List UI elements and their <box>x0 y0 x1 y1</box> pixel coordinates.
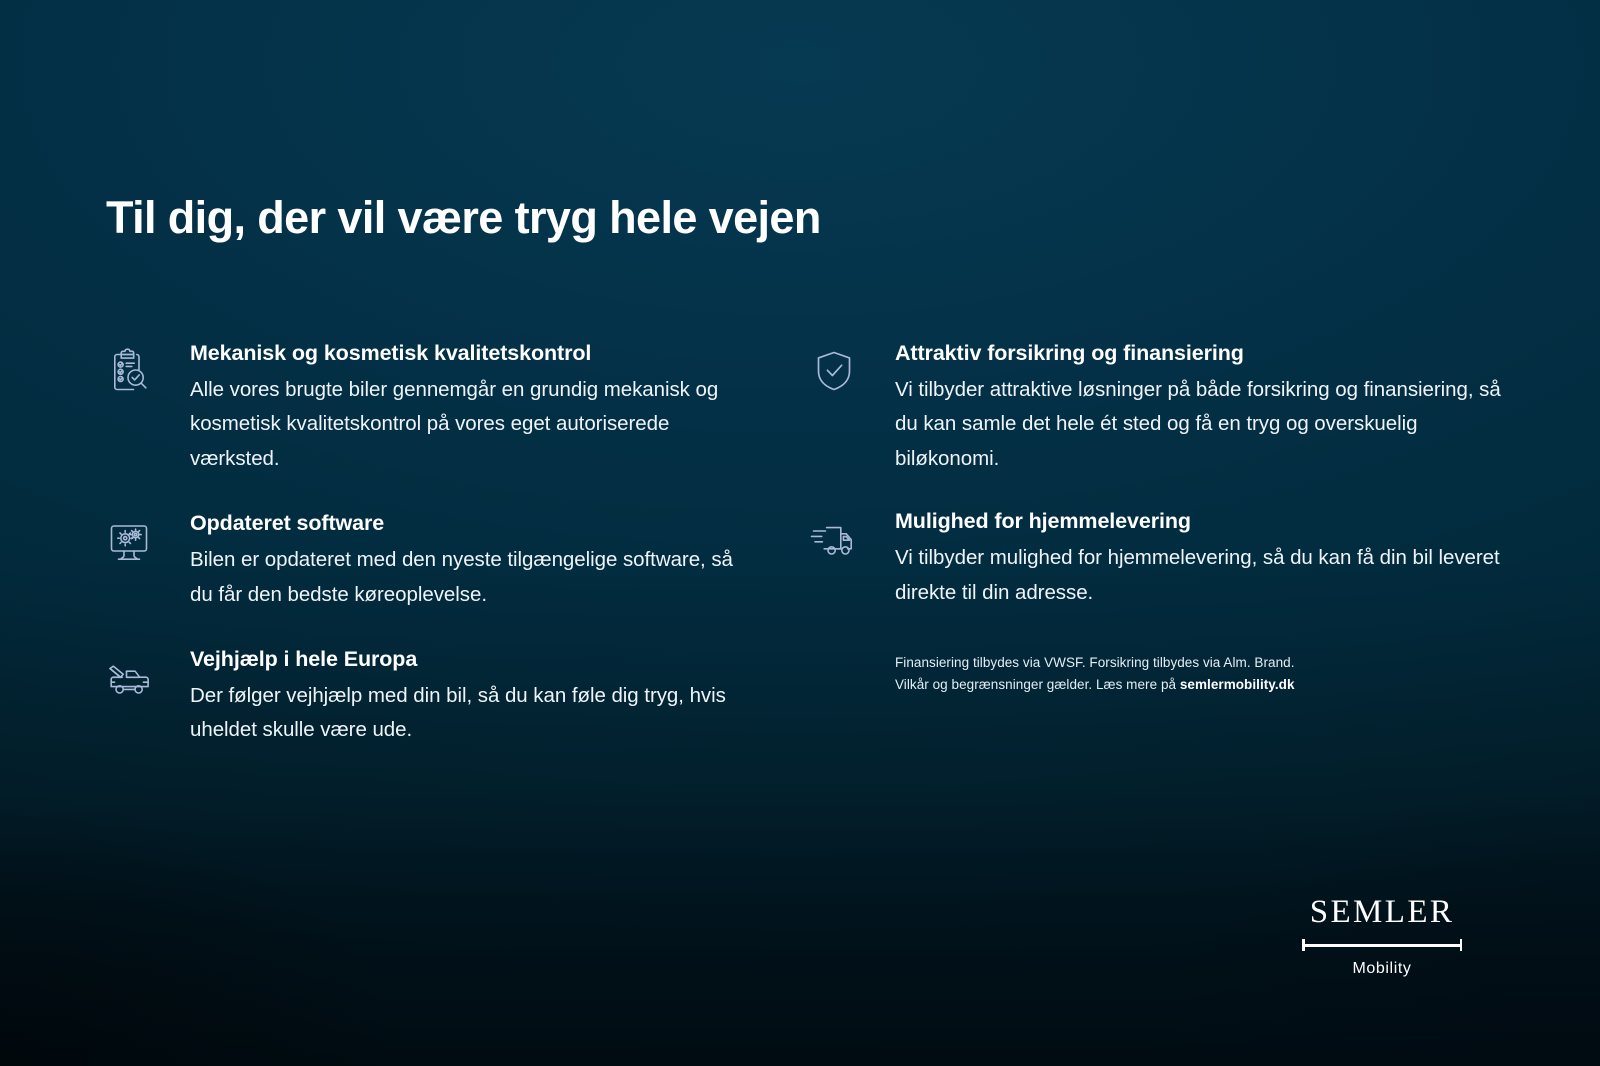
feature-item-roadside-assistance: Vejhjælp i hele Europa Der følger vejhjæ… <box>100 646 760 748</box>
feature-text: Mekanisk og kosmetisk kvalitetskontrol A… <box>158 340 760 476</box>
feature-description: Bilen er opdateret med den nyeste tilgæn… <box>190 543 760 612</box>
legal-line-1: Finansiering tilbydes via VWSF. Forsikri… <box>895 655 1295 670</box>
page-title: Til dig, der vil være tryg hele vejen <box>106 192 821 244</box>
feature-description: Vi tilbyder mulighed for hjemmelevering,… <box>895 541 1505 610</box>
logo-rule-bar <box>1302 944 1462 947</box>
feature-title: Mulighed for hjemmelevering <box>895 508 1505 535</box>
feature-text: Mulighed for hjemmelevering Vi tilbyder … <box>863 508 1505 610</box>
semler-mobility-logo: SEMLER Mobility <box>1298 896 1466 978</box>
logo-subtitle: Mobility <box>1298 960 1466 978</box>
legal-website-link[interactable]: semlermobility.dk <box>1180 677 1295 692</box>
feature-column-right: Attraktiv forsikring og finansiering Vi … <box>805 340 1505 696</box>
feature-title: Mekanisk og kosmetisk kvalitetskontrol <box>190 340 760 367</box>
delivery-truck-icon <box>805 510 863 568</box>
feature-title: Vejhjælp i hele Europa <box>190 646 760 673</box>
logo-divider-rule <box>1298 939 1466 951</box>
feature-description: Alle vores brugte biler gennemgår en gru… <box>190 373 760 476</box>
tow-truck-icon <box>100 648 158 706</box>
logo-wordmark: SEMLER <box>1298 896 1466 929</box>
feature-description: Vi tilbyder attraktive løsninger på både… <box>895 373 1505 476</box>
background-corner-right <box>864 682 1600 1066</box>
feature-column-left: Mekanisk og kosmetisk kvalitetskontrol A… <box>100 340 760 748</box>
feature-text: Opdateret software Bilen er opdateret me… <box>158 510 760 612</box>
shield-check-icon <box>805 342 863 400</box>
background-corner-left <box>0 704 672 1066</box>
promo-panel: Til dig, der vil være tryg hele vejen <box>0 0 1600 1066</box>
feature-title: Opdateret software <box>190 510 760 537</box>
legal-disclaimer: Finansiering tilbydes via VWSF. Forsikri… <box>895 652 1365 696</box>
feature-description: Der følger vejhjælp med din bil, så du k… <box>190 679 760 748</box>
feature-text: Vejhjælp i hele Europa Der følger vejhjæ… <box>158 646 760 748</box>
feature-title: Attraktiv forsikring og finansiering <box>895 340 1505 367</box>
monitor-gears-icon <box>100 512 158 570</box>
feature-text: Attraktiv forsikring og finansiering Vi … <box>863 340 1505 476</box>
legal-line-2-prefix: Vilkår og begrænsninger gælder. Læs mere… <box>895 677 1180 692</box>
logo-rule-cap-right <box>1460 939 1463 951</box>
feature-item-quality-control: Mekanisk og kosmetisk kvalitetskontrol A… <box>100 340 760 476</box>
feature-item-updated-software: Opdateret software Bilen er opdateret me… <box>100 510 760 612</box>
feature-item-insurance-financing: Attraktiv forsikring og finansiering Vi … <box>805 340 1505 476</box>
feature-item-home-delivery: Mulighed for hjemmelevering Vi tilbyder … <box>805 508 1505 610</box>
clipboard-checklist-magnifier-icon <box>100 342 158 400</box>
